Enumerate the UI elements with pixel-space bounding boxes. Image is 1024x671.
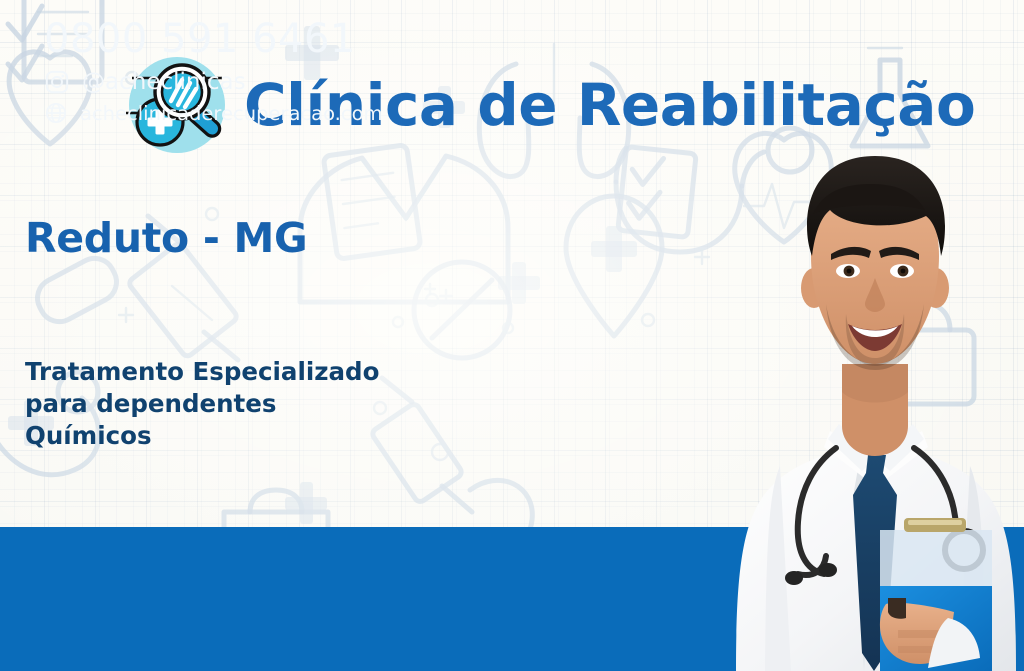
location-label: Reduto - MG	[25, 214, 307, 262]
doctor-portrait	[718, 118, 1024, 671]
head	[801, 156, 949, 370]
tagline: Tratamento Especializado para dependente…	[25, 356, 379, 452]
tagline-line-2: para dependentes	[25, 388, 379, 420]
doodle-cross-small-3	[285, 482, 327, 524]
instagram-icon	[44, 69, 70, 95]
tagline-line-1: Tratamento Especializado	[25, 356, 379, 388]
contact-footer-content: 0800 591 6461 @acheclinicas acheclinicad…	[44, 18, 383, 125]
neck	[842, 364, 908, 456]
instagram-handle: @acheclinicas	[82, 69, 246, 95]
doodle-syringe-2	[371, 378, 472, 512]
globe-icon	[44, 101, 68, 125]
website-url: acheclinicaderecuperacao.com	[80, 102, 383, 125]
doodle-clipboard-2	[323, 145, 421, 260]
clinic-banner: Clínica de Reabilitação Reduto - MG Trat…	[0, 0, 1024, 671]
doodle-pill	[414, 262, 510, 358]
website-contact[interactable]: acheclinicaderecuperacao.com	[44, 101, 383, 125]
tagline-line-3: Químicos	[25, 420, 379, 452]
phone-number[interactable]: 0800 591 6461	[44, 18, 383, 60]
doodle-bandage	[30, 251, 123, 328]
instagram-contact[interactable]: @acheclinicas	[44, 69, 383, 95]
